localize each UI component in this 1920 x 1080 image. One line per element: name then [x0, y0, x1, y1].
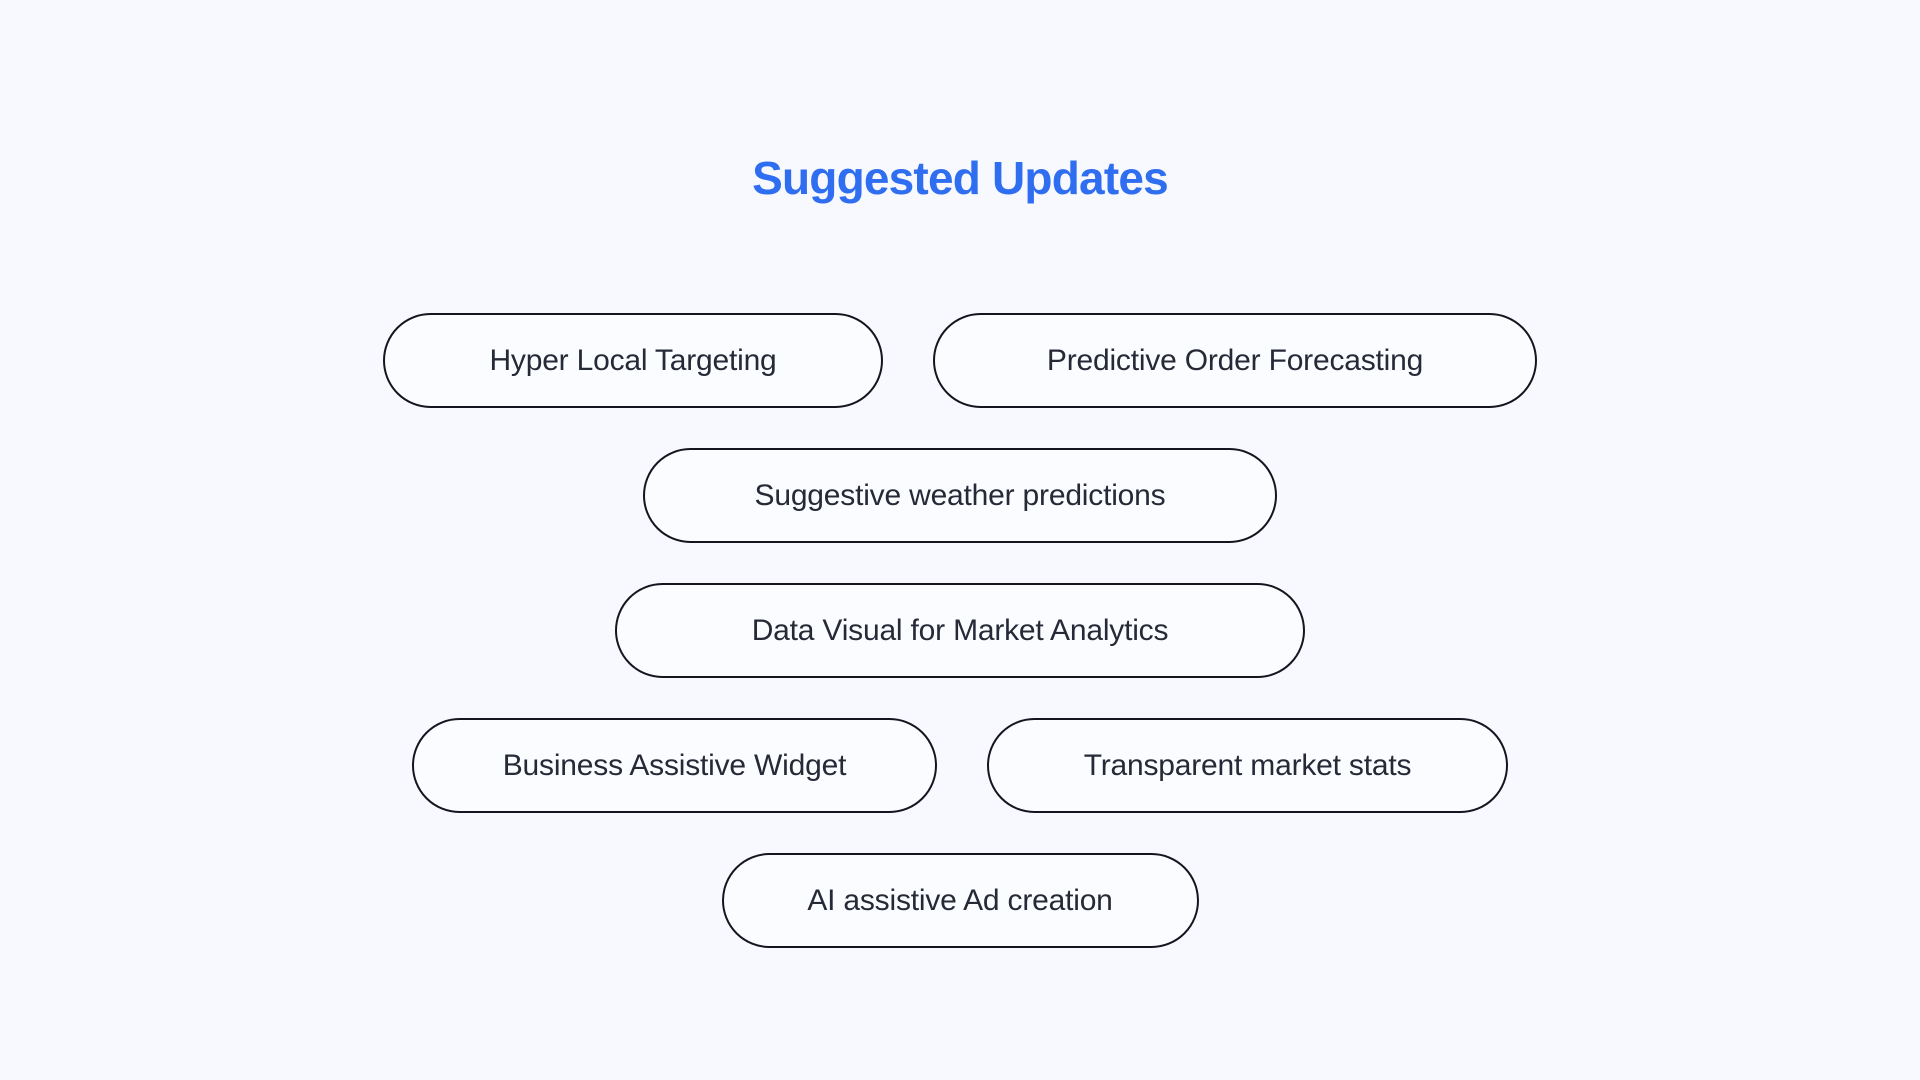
tag-suggestive-weather-predictions[interactable]: Suggestive weather predictions — [643, 448, 1277, 543]
suggested-updates-list: Hyper Local Targeting Predictive Order F… — [0, 313, 1920, 948]
tag-predictive-order-forecasting[interactable]: Predictive Order Forecasting — [933, 313, 1537, 408]
tag-hyper-local-targeting[interactable]: Hyper Local Targeting — [383, 313, 883, 408]
tag-row: Suggestive weather predictions — [643, 448, 1277, 543]
tag-row: Hyper Local Targeting Predictive Order F… — [383, 313, 1537, 408]
tag-data-visual-for-market-analytics[interactable]: Data Visual for Market Analytics — [615, 583, 1305, 678]
tag-row: Data Visual for Market Analytics — [615, 583, 1305, 678]
tag-ai-assistive-ad-creation[interactable]: AI assistive Ad creation — [722, 853, 1199, 948]
tag-transparent-market-stats[interactable]: Transparent market stats — [987, 718, 1508, 813]
tag-row: AI assistive Ad creation — [722, 853, 1199, 948]
tag-business-assistive-widget[interactable]: Business Assistive Widget — [412, 718, 937, 813]
tag-row: Business Assistive Widget Transparent ma… — [412, 718, 1508, 813]
suggested-updates-page: Suggested Updates Hyper Local Targeting … — [0, 0, 1920, 1080]
page-title: Suggested Updates — [0, 153, 1920, 204]
